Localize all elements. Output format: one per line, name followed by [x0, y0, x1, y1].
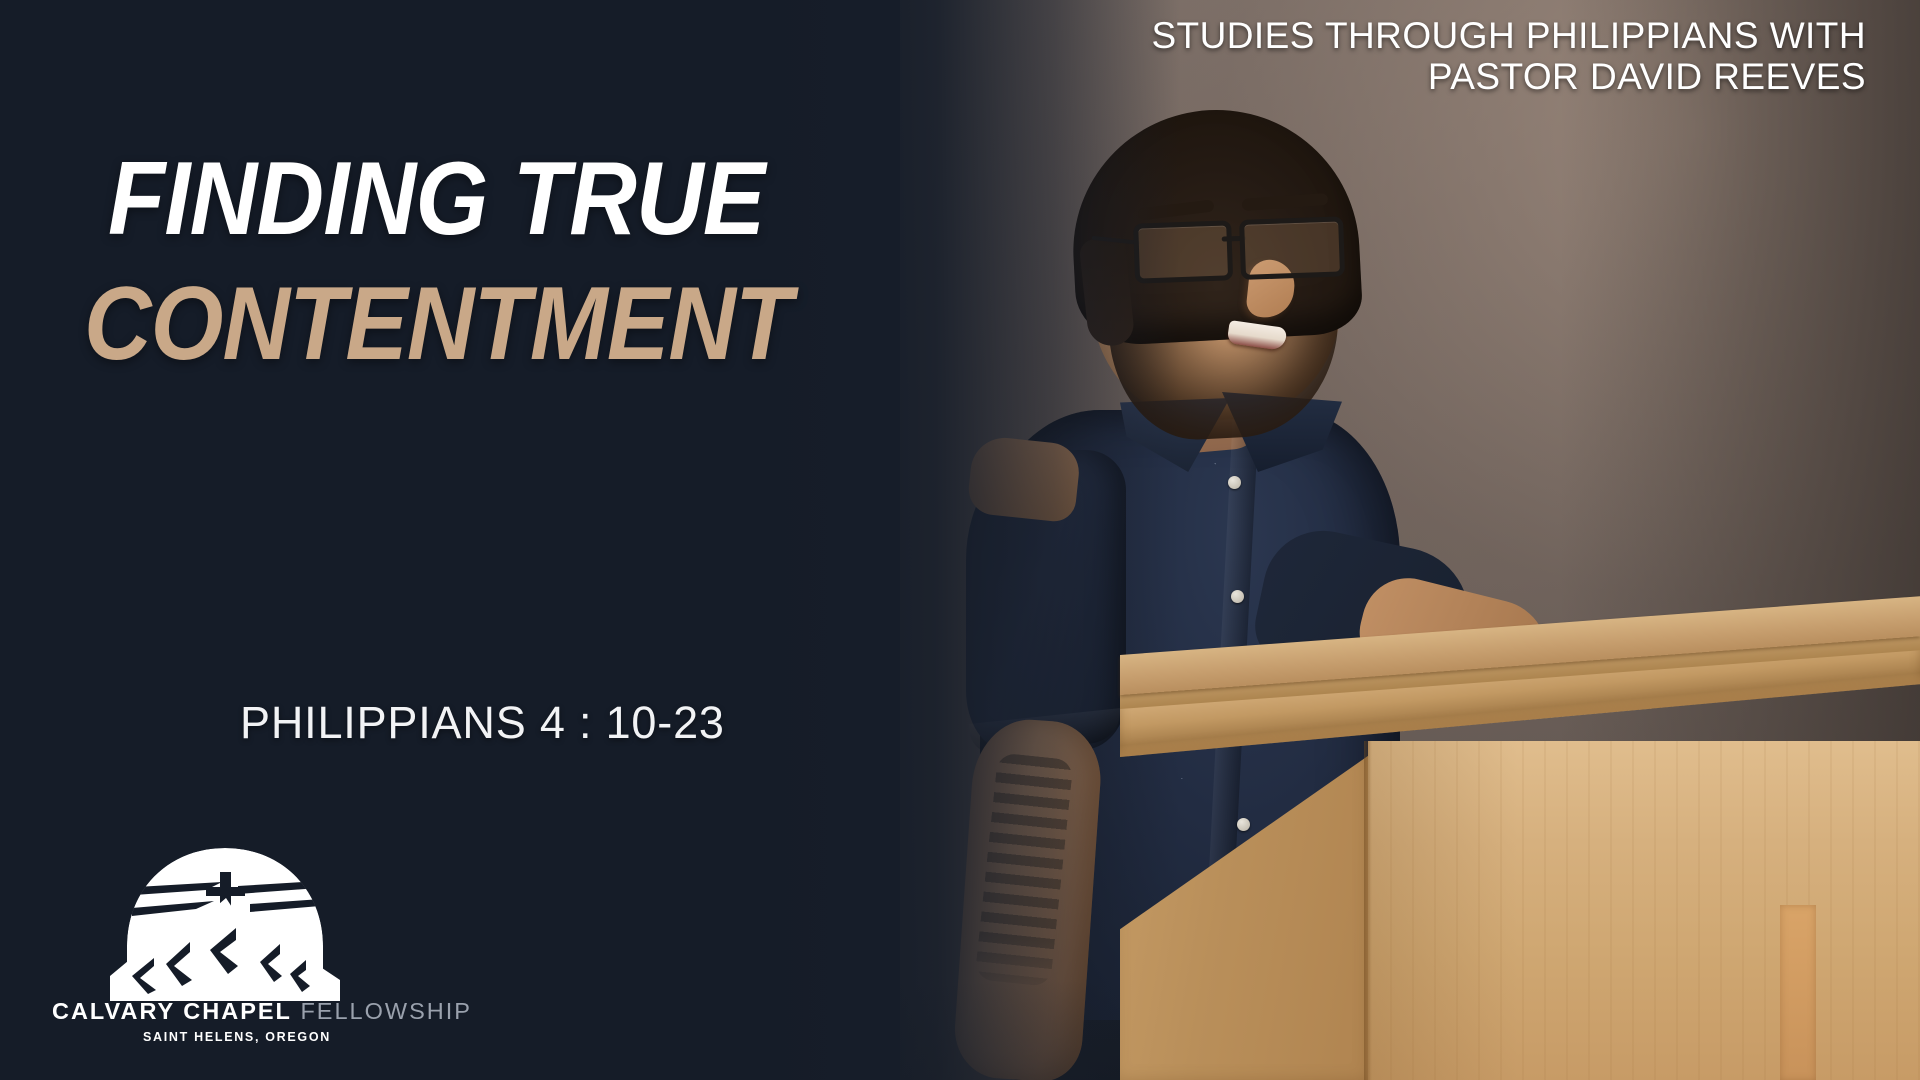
mountain-cross-icon — [110, 846, 340, 1001]
podium-corner-edge — [1364, 741, 1372, 1080]
logo-wordmark: CALVARY CHAPEL FELLOWSHIP SAINT HELENS, … — [52, 998, 422, 1044]
wooden-podium — [1120, 655, 1920, 1080]
scripture-reference: PHILIPPIANS 4 : 10-23 — [240, 697, 725, 749]
podium-wood-grain — [1368, 741, 1920, 1080]
church-logo: CALVARY CHAPEL FELLOWSHIP SAINT HELENS, … — [52, 846, 422, 1058]
series-kicker: STUDIES THROUGH PHILIPPIANS WITH PASTOR … — [1086, 16, 1866, 97]
shirt-button — [1231, 590, 1244, 603]
logo-name: CALVARY CHAPEL FELLOWSHIP — [52, 998, 422, 1025]
title-line-1: FINDING TRUE — [108, 148, 794, 251]
podium-left-panel — [1120, 751, 1375, 1080]
shirt-button — [1228, 476, 1241, 489]
glasses-lens-right — [1239, 216, 1345, 280]
sermon-title: FINDING TRUE CONTENTMENT — [108, 148, 870, 376]
sermon-title-slide: STUDIES THROUGH PHILIPPIANS WITH PASTOR … — [0, 0, 1920, 1080]
podium-inlay-strip — [1780, 905, 1816, 1080]
title-line-2: CONTENTMENT — [84, 273, 791, 376]
logo-name-bold: CALVARY CHAPEL — [52, 998, 292, 1024]
kicker-line-2: PASTOR DAVID REEVES — [1086, 57, 1866, 98]
logo-name-light: FELLOWSHIP — [300, 998, 471, 1024]
logo-location: SAINT HELENS, OREGON — [52, 1030, 422, 1044]
kicker-line-1: STUDIES THROUGH PHILIPPIANS WITH — [1086, 16, 1866, 57]
